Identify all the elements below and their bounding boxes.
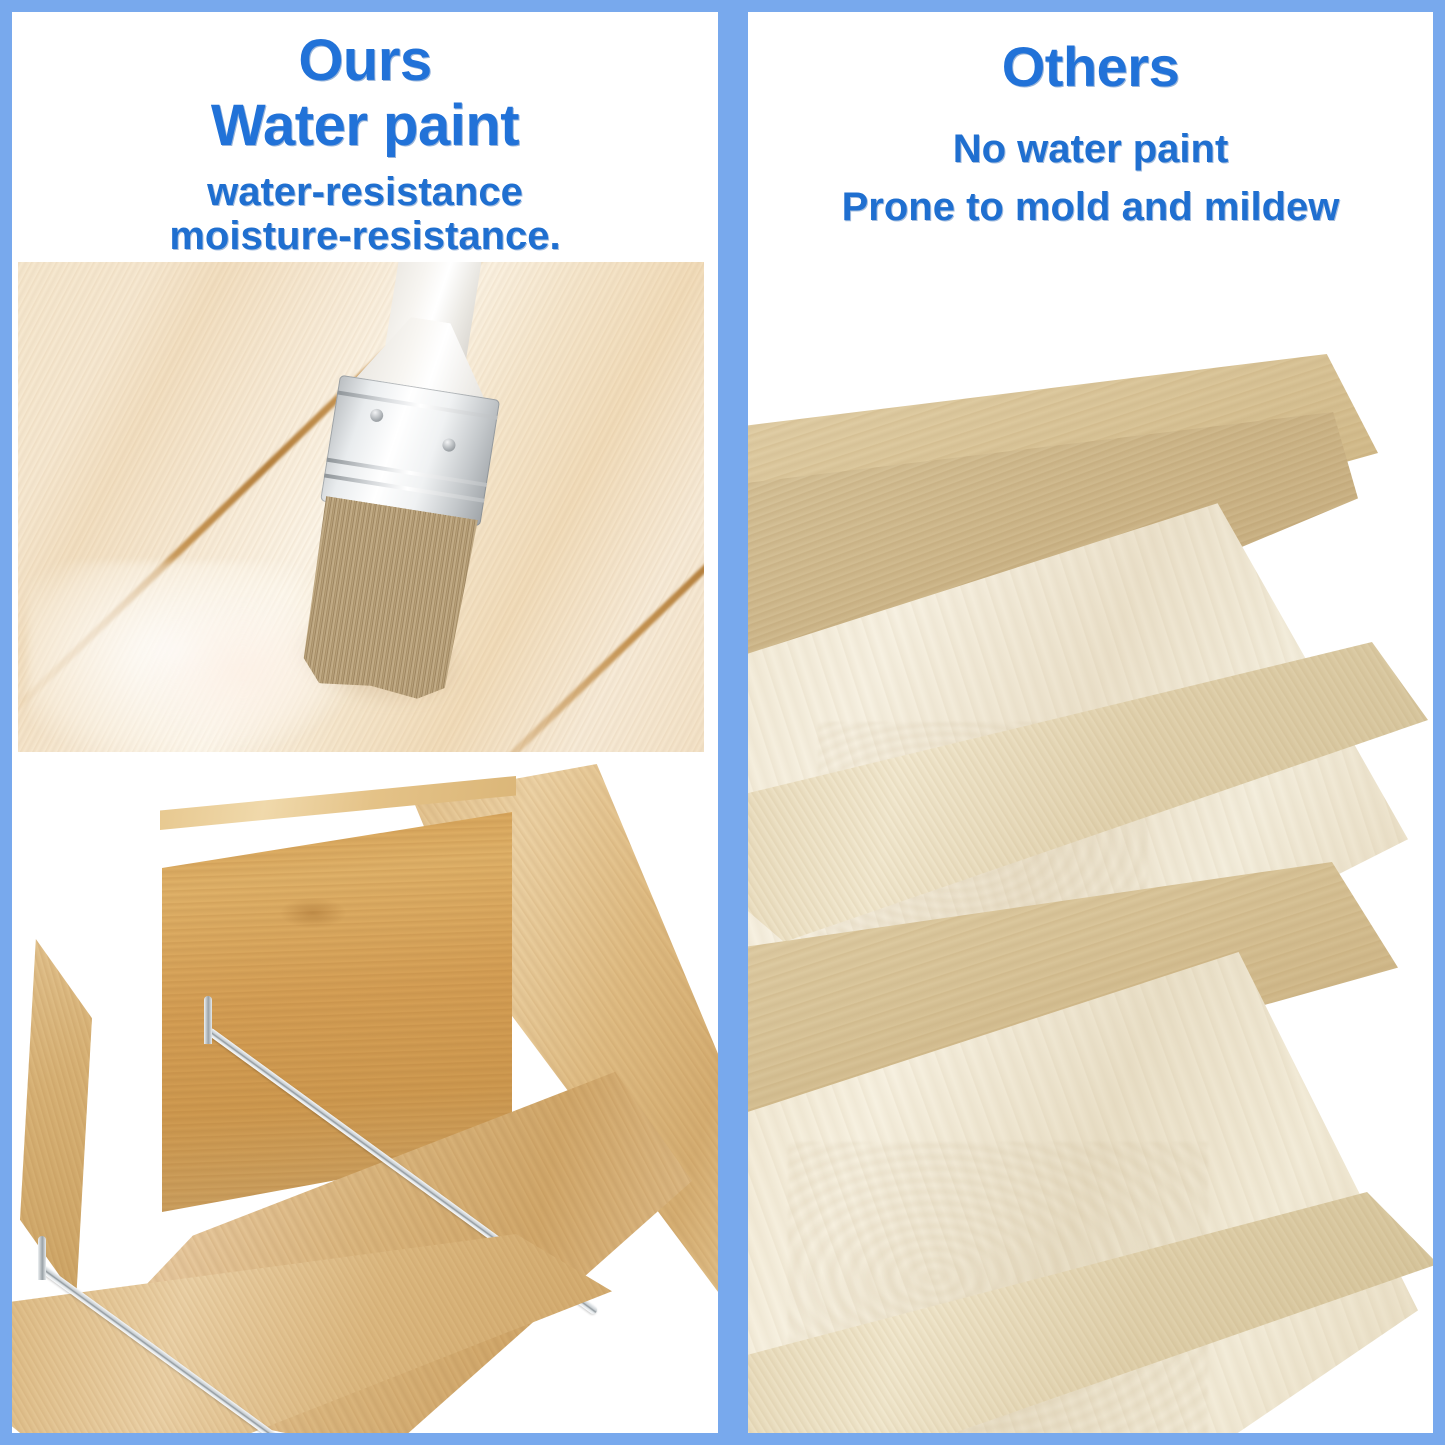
chrome-rail-upright xyxy=(38,1236,46,1280)
others-panel: Others No water paint Prone to mold and … xyxy=(748,12,1433,1433)
ours-heading-block: Ours Water paint water-resistance moistu… xyxy=(12,12,718,258)
ferrule-rivet xyxy=(442,438,457,453)
comparison-infographic: Ours Water paint water-resistance moistu… xyxy=(0,0,1445,1445)
ferrule-band xyxy=(326,458,487,487)
chrome-rail-upright xyxy=(204,996,212,1044)
ours-title: Ours xyxy=(12,30,718,92)
wood-knot xyxy=(280,898,346,928)
image-finished-rubberwood-rack xyxy=(12,764,718,1433)
ours-benefit-line-1: water-resistance xyxy=(12,170,718,214)
ours-panel: Ours Water paint water-resistance moistu… xyxy=(12,12,718,1433)
others-drawback-line-2: Prone to mold and mildew xyxy=(748,178,1433,236)
others-heading-block: Others No water paint Prone to mold and … xyxy=(748,12,1433,236)
others-drawback-line-1: No water paint xyxy=(748,120,1433,178)
ours-benefit-line-2: moisture-resistance. xyxy=(12,214,718,258)
ferrule-rivet xyxy=(369,408,384,423)
ours-subtitle: Water paint xyxy=(12,94,718,158)
image-untreated-two-tier-shelf xyxy=(748,262,1433,1433)
others-title: Others xyxy=(748,36,1433,98)
ferrule-band xyxy=(337,390,498,419)
image-brush-on-wood xyxy=(18,262,704,752)
